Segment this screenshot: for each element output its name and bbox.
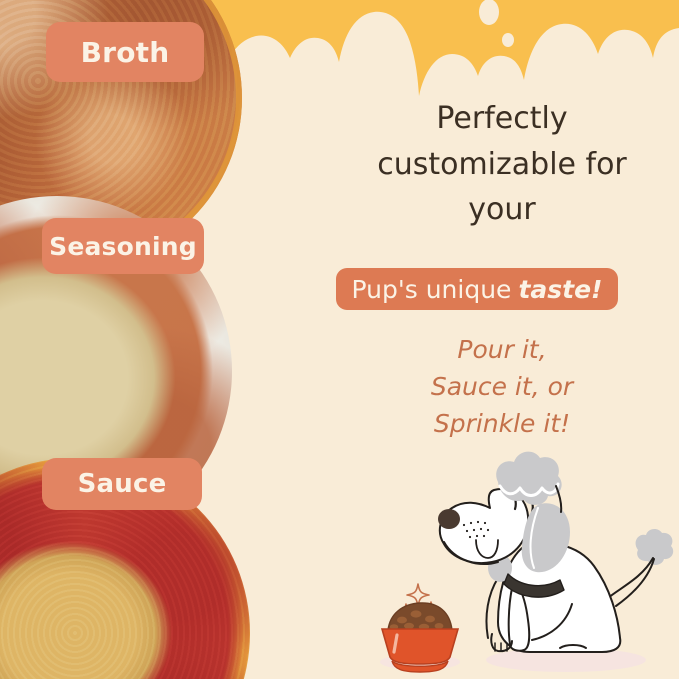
dog-chest-line bbox=[486, 578, 498, 638]
headline-line-2: customizable for bbox=[352, 142, 652, 188]
headline-line-1: Perfectly bbox=[352, 96, 652, 142]
subcopy-line-2: Sauce it, or bbox=[352, 369, 652, 406]
subcopy: Pour it, Sauce it, or Sprinkle it! bbox=[352, 332, 652, 442]
headline-line-3: your bbox=[352, 187, 652, 233]
subcopy-line-1: Pour it, bbox=[352, 332, 652, 369]
label-text-broth: Broth bbox=[81, 36, 170, 69]
highlight-prefix-text: Pup's unique bbox=[352, 275, 512, 304]
dog-nose-icon bbox=[438, 509, 460, 529]
highlight-pill-taste: Pup's unique taste! bbox=[336, 268, 618, 310]
label-text-seasoning: Seasoning bbox=[49, 232, 197, 261]
label-pill-broth: Broth bbox=[46, 22, 204, 82]
label-pill-seasoning: Seasoning bbox=[42, 218, 204, 274]
dog-food-bowl bbox=[382, 603, 458, 672]
dog-tail-line bbox=[608, 558, 653, 598]
poodle-dog bbox=[438, 452, 673, 652]
headline: Perfectly customizable for your bbox=[352, 96, 652, 233]
drip-droplet-tiny bbox=[502, 33, 514, 47]
label-text-sauce: Sauce bbox=[78, 469, 167, 499]
label-pill-sauce: Sauce bbox=[42, 458, 202, 510]
highlight-emphasis-text: taste! bbox=[518, 275, 602, 304]
subcopy-line-3: Sprinkle it! bbox=[352, 406, 652, 443]
drip-droplet-small bbox=[479, 0, 499, 25]
promo-canvas: Broth Seasoning Sauce Perfectly customiz… bbox=[0, 0, 679, 679]
poodle-illustration-scene bbox=[370, 438, 679, 679]
